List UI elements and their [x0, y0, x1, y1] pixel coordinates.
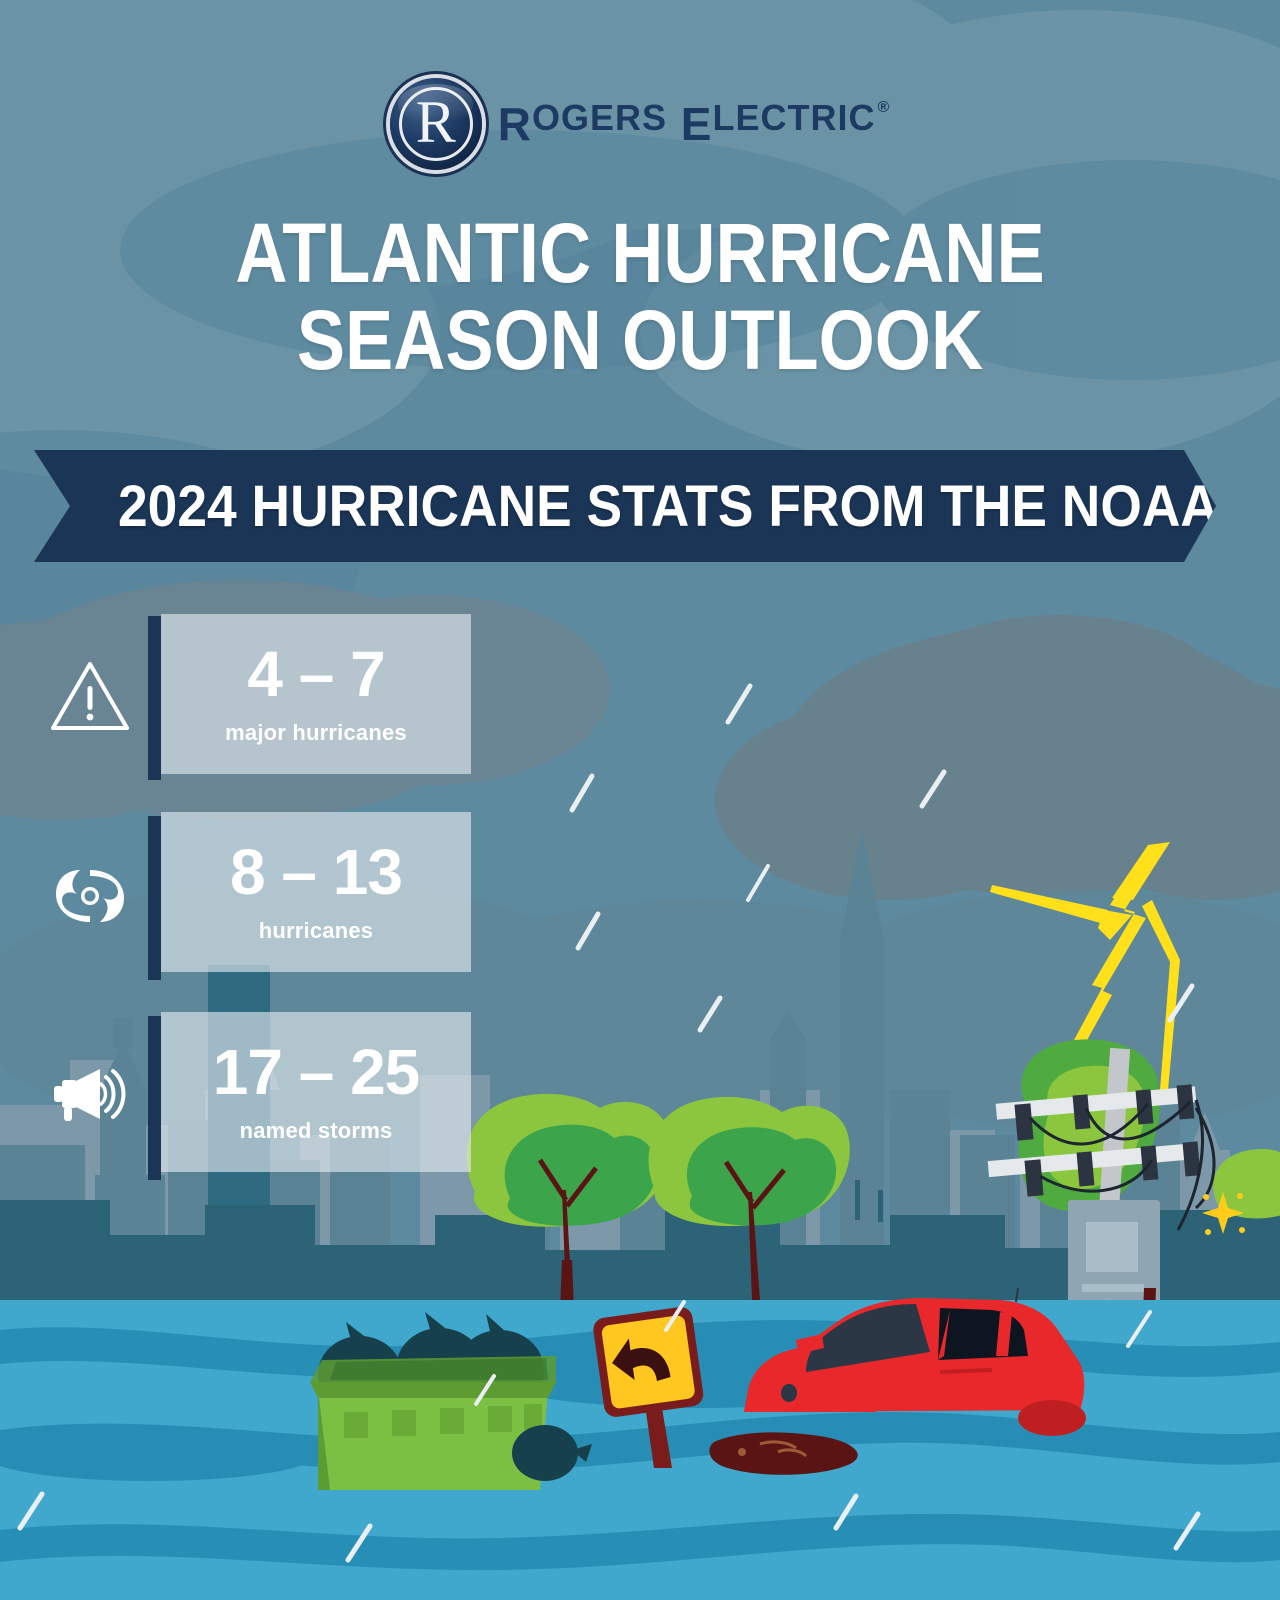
stat-panel: 8 – 13 hurricanes: [161, 812, 471, 972]
page-title: ATLANTIC HURRICANE SEASON OUTLOOK: [90, 210, 1191, 385]
stat-accent-bar: [148, 616, 161, 780]
stat-panel: 4 – 7 major hurricanes: [161, 614, 471, 774]
brand-name: ROGERS ELECTRIC®: [498, 97, 891, 151]
stat-row: 17 – 25 named storms: [0, 1008, 560, 1208]
hurricane-symbol-icon: [48, 854, 132, 938]
stat-row: 8 – 13 hurricanes: [0, 808, 560, 1008]
brand-name-rogers-rest: OGERS: [532, 97, 667, 139]
stat-value: 4 – 7: [247, 642, 384, 706]
stat-value: 17 – 25: [213, 1040, 420, 1104]
ribbon-label: 2024 HURRICANE STATS FROM THE NOAA: [118, 473, 1219, 540]
registered-trademark-icon: ®: [877, 99, 890, 117]
brand-logo: R ROGERS ELECTRIC®: [0, 78, 1280, 170]
infographic-poster: R ROGERS ELECTRIC® ATLANTIC HURRICANE SE…: [0, 0, 1280, 1600]
stat-accent-bar: [148, 816, 161, 980]
brand-name-electric-rest: LECTRIC: [712, 97, 875, 139]
section-ribbon: 2024 HURRICANE STATS FROM THE NOAA: [34, 450, 1216, 562]
stats-list: 4 – 7 major hurricanes 8 – 13 hurricanes: [0, 608, 560, 1208]
page-title-line1: ATLANTIC HURRICANE: [90, 210, 1191, 297]
stat-accent-bar: [148, 1016, 161, 1180]
brand-name-electric-cap: E: [681, 97, 713, 151]
stat-label: named storms: [240, 1118, 393, 1144]
stat-value: 8 – 13: [230, 840, 402, 904]
stat-row: 4 – 7 major hurricanes: [0, 608, 560, 808]
logo-emblem-icon: R: [390, 78, 482, 170]
stat-label: hurricanes: [259, 918, 374, 944]
logo-letter: R: [416, 92, 456, 152]
page-title-line2: SEASON OUTLOOK: [90, 297, 1191, 384]
brand-name-rogers-cap: R: [498, 97, 532, 151]
stat-panel: 17 – 25 named storms: [161, 1012, 471, 1172]
warning-triangle-icon: [48, 654, 132, 738]
stat-label: major hurricanes: [225, 720, 407, 746]
megaphone-icon: [48, 1054, 132, 1138]
